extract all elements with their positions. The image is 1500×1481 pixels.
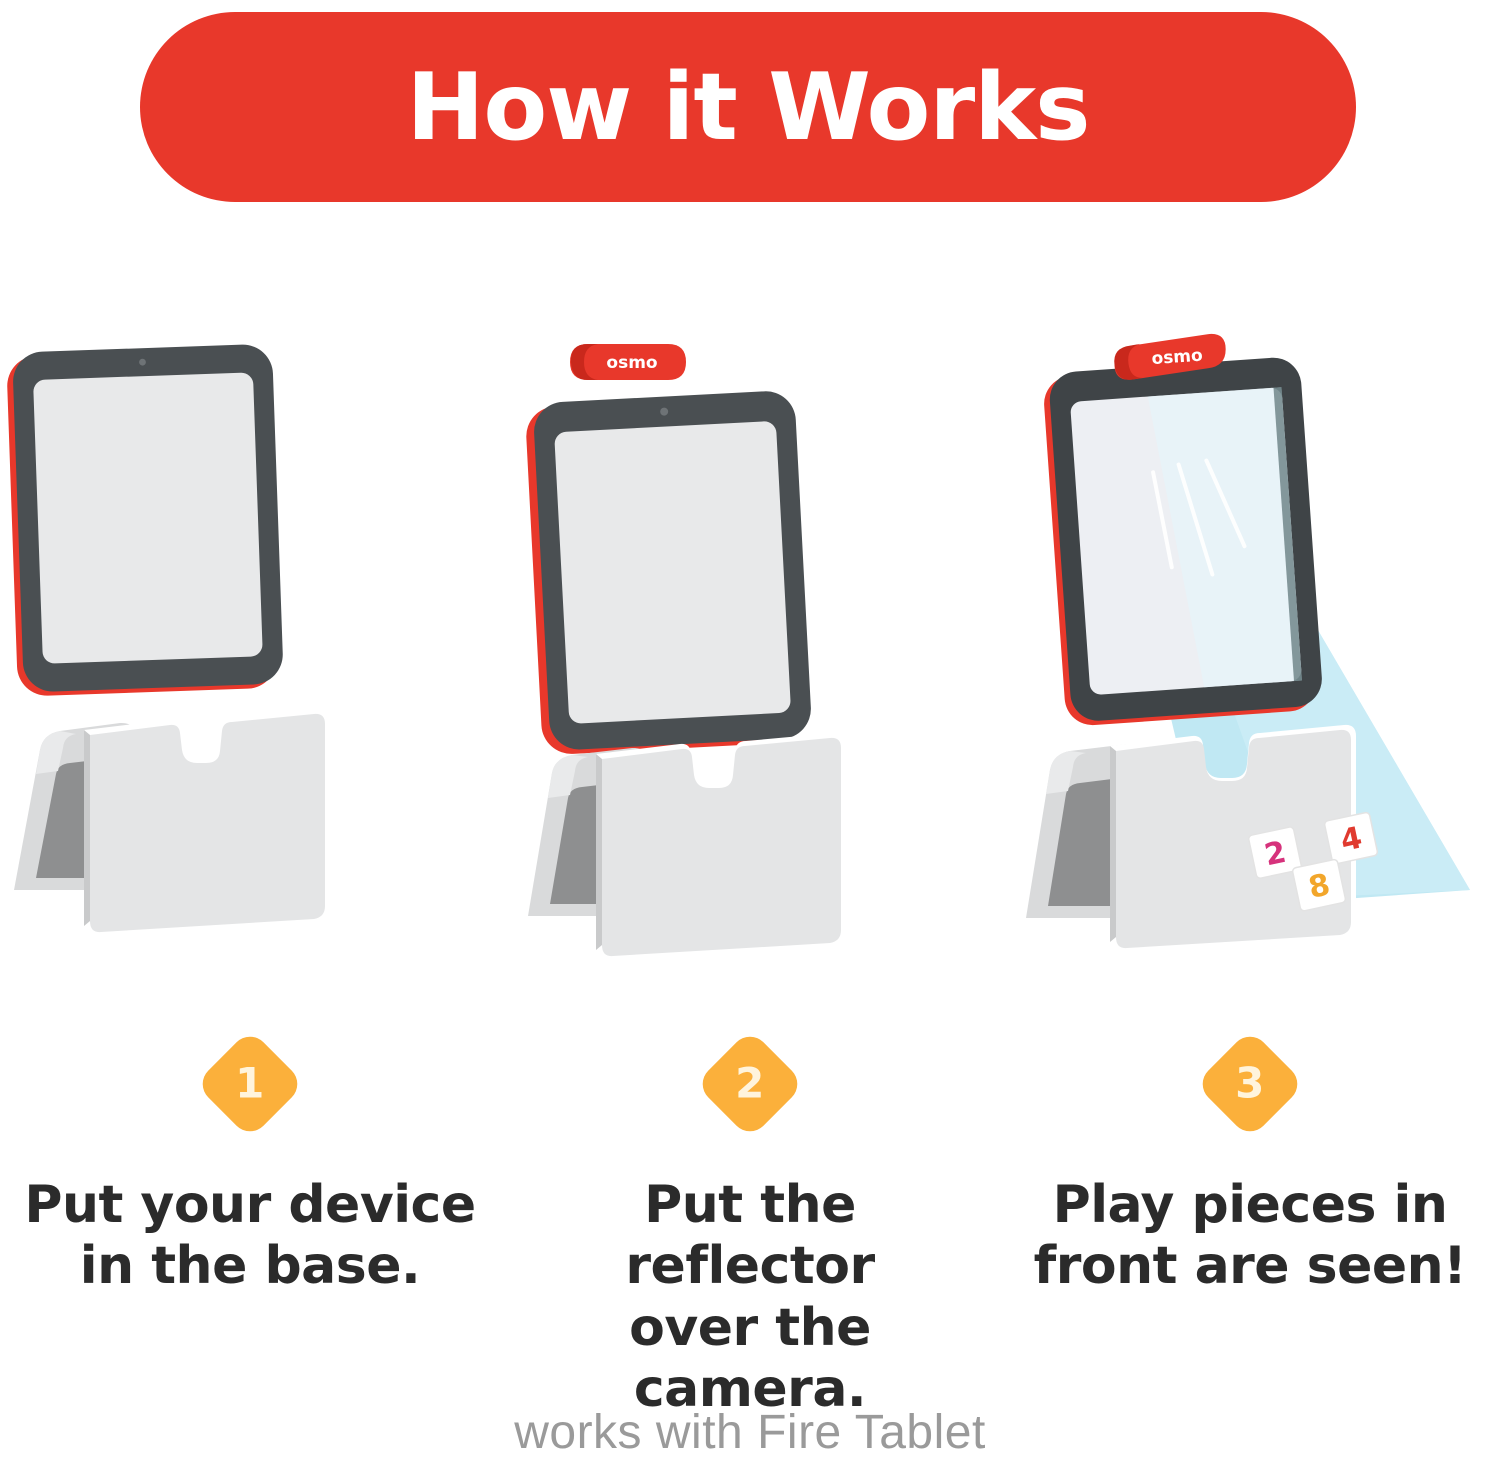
caption-line-1: Play pieces in bbox=[1053, 1175, 1448, 1235]
step-number: 1 bbox=[235, 1063, 264, 1105]
steps-row: 1 Put your device in the base. osmo bbox=[0, 330, 1500, 1370]
tile-4: 4 bbox=[1324, 812, 1378, 865]
reflector-2: osmo bbox=[570, 344, 686, 380]
step-1: 1 Put your device in the base. bbox=[0, 330, 500, 1370]
caption-line-2: in the base. bbox=[14, 1236, 486, 1297]
tablet-2 bbox=[525, 390, 813, 756]
step-2-caption: Put the reflector over the camera. bbox=[500, 1175, 1000, 1420]
tablet-3 bbox=[1042, 356, 1324, 727]
step-1-caption: Put your device in the base. bbox=[0, 1175, 500, 1298]
step-3-illustration: osmo 2 bbox=[1000, 330, 1500, 970]
step-number: 3 bbox=[1235, 1063, 1264, 1105]
step-number: 2 bbox=[735, 1063, 764, 1105]
page-title: How it Works bbox=[407, 61, 1090, 154]
step-3: osmo 2 bbox=[1000, 330, 1500, 1370]
step-1-illustration bbox=[0, 330, 500, 970]
base-stand-1 bbox=[14, 709, 330, 938]
header-banner: How it Works bbox=[140, 12, 1356, 202]
step-3-caption: Play pieces in front are seen! bbox=[1000, 1175, 1500, 1298]
tablet-1 bbox=[6, 344, 284, 697]
step-badge-diamond: 1 bbox=[195, 1029, 305, 1139]
caption-line-2: front are seen! bbox=[1014, 1236, 1486, 1297]
step-2: osmo bbox=[500, 330, 1000, 1370]
reflector-brand-text: osmo bbox=[1151, 346, 1203, 370]
step-2-illustration: osmo bbox=[500, 330, 1000, 970]
caption-line-2: over the camera. bbox=[514, 1298, 986, 1421]
how-it-works-infographic: How it Works bbox=[0, 0, 1500, 1481]
base-stand-3 bbox=[1026, 725, 1356, 954]
step-2-badge: 2 bbox=[500, 1045, 1000, 1123]
base-stand-2 bbox=[528, 733, 846, 962]
step-badge-diamond: 3 bbox=[1195, 1029, 1305, 1139]
footer-note: works with Fire Tablet bbox=[0, 1405, 1500, 1460]
caption-line-1: Put the reflector bbox=[625, 1175, 874, 1296]
step-3-badge: 3 bbox=[1000, 1045, 1500, 1123]
reflector-brand-text: osmo bbox=[606, 353, 657, 373]
tile-8: 8 bbox=[1292, 859, 1346, 912]
step-badge-diamond: 2 bbox=[695, 1029, 805, 1139]
step-1-badge: 1 bbox=[0, 1045, 500, 1123]
caption-line-1: Put your device bbox=[24, 1175, 475, 1235]
